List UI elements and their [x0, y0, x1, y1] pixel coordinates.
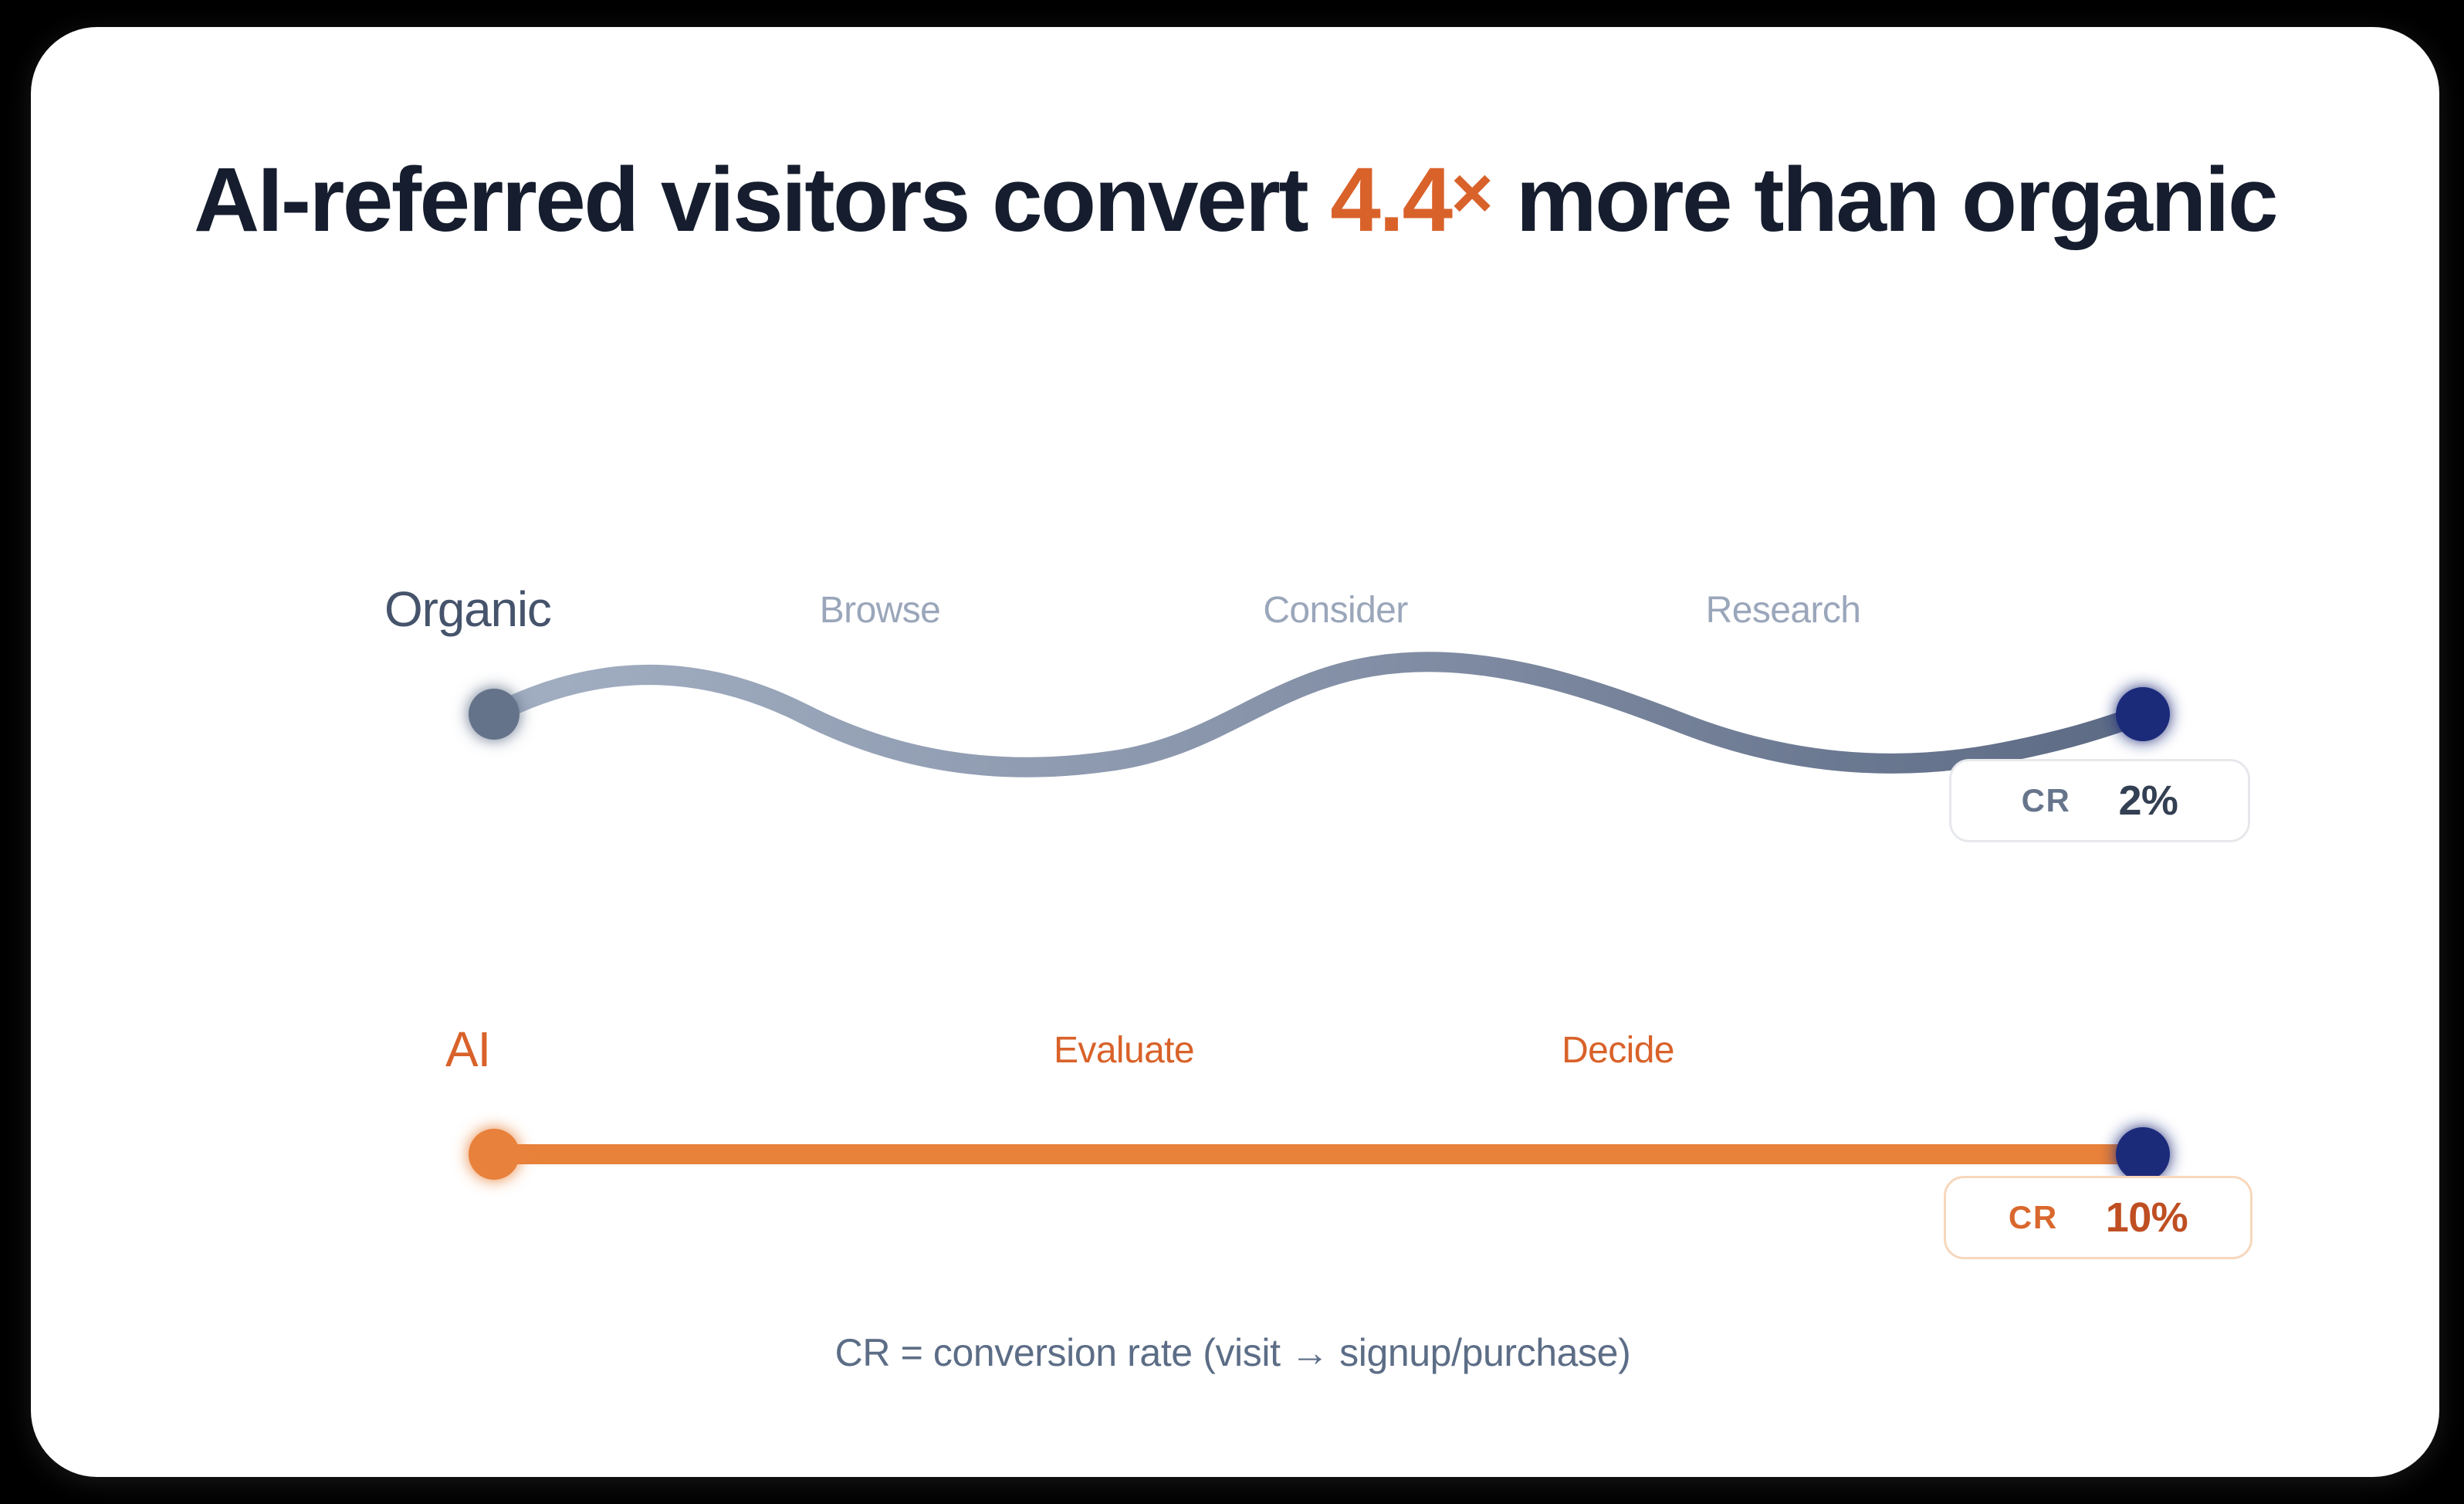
footnote: CR = conversion rate (visit → signup/pur…	[31, 1333, 2439, 1372]
page-title: AI-referred visitors convert 4.4× more t…	[31, 149, 2439, 251]
journey-label-organic: Organic	[384, 584, 551, 634]
title-after: more than organic	[1493, 149, 2276, 251]
journey-row-ai: AI Evaluate Decide	[31, 977, 2439, 1301]
journey-label-ai: AI	[445, 1025, 490, 1074]
organic-end-dot	[2116, 687, 2170, 741]
cr-label-organic: CR	[2022, 784, 2071, 817]
stage-label-decide: Decide	[1562, 1032, 1674, 1069]
title-before: AI-referred visitors convert	[194, 149, 1330, 251]
title-accent-multiplier: 4.4×	[1330, 149, 1492, 251]
stage-label-browse: Browse	[820, 592, 940, 629]
journey-row-organic: Organic Browse Consider Research	[31, 537, 2439, 861]
stage-label-evaluate: Evaluate	[1054, 1032, 1194, 1069]
cr-value-organic: 2%	[2119, 780, 2178, 821]
footnote-text: CR = conversion rate (visit → signup/pur…	[835, 1333, 1631, 1372]
organic-wave-line	[494, 662, 2143, 767]
cr-label-ai: CR	[2009, 1201, 2058, 1234]
screenshot-root: AI-referred visitors convert 4.4× more t…	[0, 0, 2464, 1504]
multiplication-sign-icon: ×	[1451, 153, 1493, 234]
title-accent-number: 4.4	[1330, 149, 1450, 251]
infographic-card: AI-referred visitors convert 4.4× more t…	[31, 27, 2439, 1477]
ai-start-dot	[469, 1129, 520, 1180]
cr-value-ai: 10%	[2106, 1197, 2188, 1238]
cr-badge-ai[interactable]: CR 10%	[1944, 1176, 2252, 1259]
organic-start-dot	[469, 689, 520, 740]
stage-label-research: Research	[1706, 592, 1861, 629]
ai-end-dot	[2116, 1127, 2170, 1181]
stage-label-consider: Consider	[1263, 592, 1407, 629]
cr-badge-organic[interactable]: CR 2%	[1949, 759, 2250, 842]
